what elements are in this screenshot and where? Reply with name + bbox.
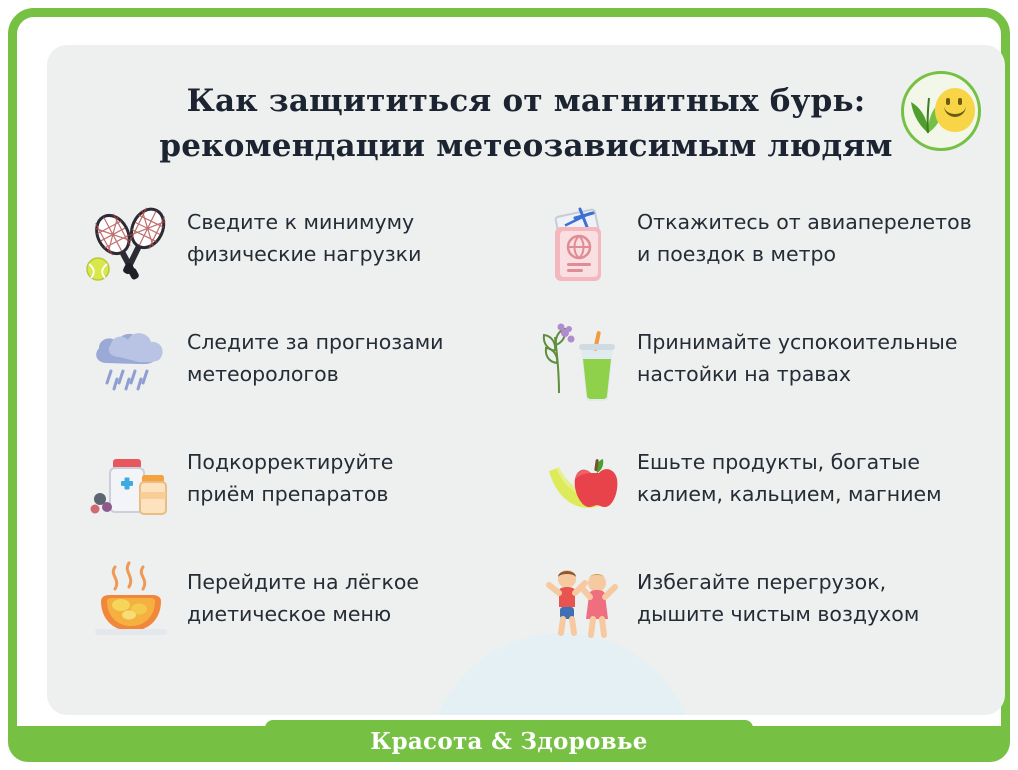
list-item: Ешьте продукты, богатые калием, кальцием… (535, 433, 975, 553)
rain-cloud-icon (85, 317, 177, 409)
list-item: Сведите к минимуму физические нагрузки (85, 193, 525, 313)
list-item-line-1: Подкорректируйте (187, 447, 393, 479)
list-item: Избегайте перегрузок, дышите чистым возд… (535, 553, 975, 673)
poster-card: Как защититься от магнитных бурь: рекоме… (47, 45, 1005, 715)
tips-column-right: Откажитесь от авиаперелетов и поездок в … (535, 193, 975, 673)
list-item: Принимайте успокоительные настойки на тр… (535, 313, 975, 433)
hot-soup-bowl-icon (85, 557, 177, 649)
list-item-line-1: Избегайте перегрузок, (637, 567, 919, 599)
list-item-text: Подкорректируйте приём препаратов (187, 433, 393, 511)
list-item-text: Принимайте успокоительные настойки на тр… (637, 313, 957, 391)
list-item-line-1: Ешьте продукты, богатые (637, 447, 942, 479)
herbal-drink-icon (535, 317, 627, 409)
list-item-text: Следите за прогнозами метеорологов (187, 313, 444, 391)
tennis-rackets-icon (85, 197, 177, 289)
list-item-line-1: Следите за прогнозами (187, 327, 444, 359)
title-line-2: рекомендации метеозависимым людям (47, 124, 1005, 169)
list-item-line-2: приём препаратов (187, 479, 393, 511)
tips-column-left: Сведите к минимуму физические нагрузки (85, 193, 525, 673)
list-item-line-2: диетическое меню (187, 599, 419, 631)
list-item-line-2: и поездок в метро (637, 239, 972, 271)
list-item-line-1: Принимайте успокоительные (637, 327, 957, 359)
medicine-bottles-icon (85, 437, 177, 529)
brand-label: Красота & Здоровье (370, 728, 648, 755)
list-item-line-1: Откажитесь от авиаперелетов (637, 207, 972, 239)
list-item-line-2: физические нагрузки (187, 239, 421, 271)
smiley-icon (935, 88, 975, 132)
children-playing-icon (535, 557, 627, 649)
list-item: Перейдите на лёгкое диетическое меню (85, 553, 525, 673)
list-item-text: Откажитесь от авиаперелетов и поездок в … (637, 193, 972, 271)
list-item: Следите за прогнозами метеорологов (85, 313, 525, 433)
poster-frame: Как защититься от магнитных бурь: рекоме… (8, 8, 1010, 762)
title-line-1: Как защититься от магнитных бурь: (47, 79, 1005, 124)
list-item-line-1: Перейдите на лёгкое (187, 567, 419, 599)
passport-tickets-icon (535, 197, 627, 289)
list-item-text: Ешьте продукты, богатые калием, кальцием… (637, 433, 942, 511)
fruits-icon (535, 437, 627, 529)
status-badge: Красота & Здоровье (265, 720, 753, 762)
list-item-line-2: метеорологов (187, 359, 444, 391)
list-item-line-1: Сведите к минимуму (187, 207, 421, 239)
list-item-text: Перейдите на лёгкое диетическое меню (187, 553, 419, 631)
list-item-text: Избегайте перегрузок, дышите чистым возд… (637, 553, 919, 631)
list-item-text: Сведите к минимуму физические нагрузки (187, 193, 421, 271)
list-item: Подкорректируйте приём препаратов (85, 433, 525, 553)
list-item-line-2: дышите чистым воздухом (637, 599, 919, 631)
list-item-line-2: калием, кальцием, магнием (637, 479, 942, 511)
list-item: Откажитесь от авиаперелетов и поездок в … (535, 193, 975, 313)
list-item-line-2: настойки на травах (637, 359, 957, 391)
page-title: Как защититься от магнитных бурь: рекоме… (47, 79, 1005, 169)
infographic-poster: Как защититься от магнитных бурь: рекоме… (0, 0, 1018, 770)
leaf-and-smiley-logo (901, 71, 981, 151)
